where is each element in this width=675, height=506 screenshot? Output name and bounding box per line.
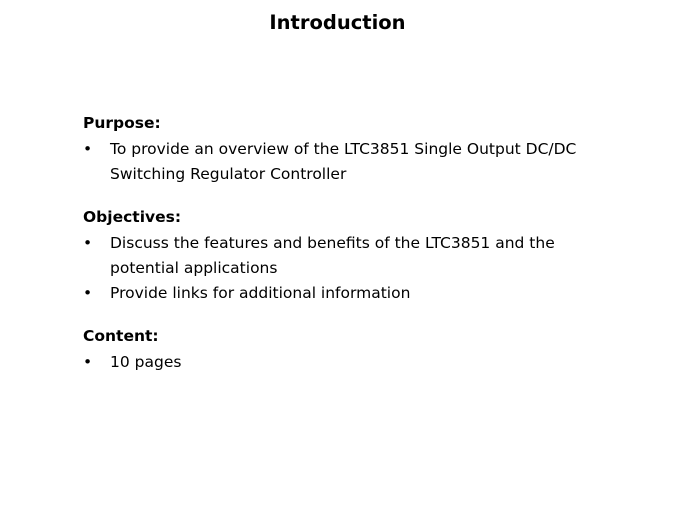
list-item: • Discuss the features and benefits of t… bbox=[83, 231, 603, 281]
bullet-icon: • bbox=[83, 350, 95, 375]
list-item-label: Provide links for additional information bbox=[110, 281, 603, 306]
section-heading-purpose: Purpose: bbox=[83, 113, 603, 134]
list-item-label: 10 pages bbox=[110, 350, 603, 375]
slide-body: Purpose: • To provide an overview of the… bbox=[83, 113, 603, 375]
list-item-label: Discuss the features and benefits of the… bbox=[110, 231, 603, 281]
bullet-list-purpose: • To provide an overview of the LTC3851 … bbox=[83, 137, 603, 187]
list-item: • To provide an overview of the LTC3851 … bbox=[83, 137, 603, 187]
list-item-label: To provide an overview of the LTC3851 Si… bbox=[110, 137, 603, 187]
slide-canvas: Introduction Purpose: • To provide an ov… bbox=[0, 0, 675, 506]
bullet-list-content: • 10 pages bbox=[83, 350, 603, 375]
section-content: Content: • 10 pages bbox=[83, 326, 603, 375]
bullet-icon: • bbox=[83, 281, 95, 306]
section-heading-objectives: Objectives: bbox=[83, 207, 603, 228]
section-objectives: Objectives: • Discuss the features and b… bbox=[83, 207, 603, 306]
bullet-list-objectives: • Discuss the features and benefits of t… bbox=[83, 231, 603, 306]
bullet-icon: • bbox=[83, 137, 95, 162]
section-purpose: Purpose: • To provide an overview of the… bbox=[83, 113, 603, 187]
section-heading-content: Content: bbox=[83, 326, 603, 347]
bullet-icon: • bbox=[83, 231, 95, 256]
page-title: Introduction bbox=[0, 10, 675, 36]
list-item: • Provide links for additional informati… bbox=[83, 281, 603, 306]
list-item: • 10 pages bbox=[83, 350, 603, 375]
